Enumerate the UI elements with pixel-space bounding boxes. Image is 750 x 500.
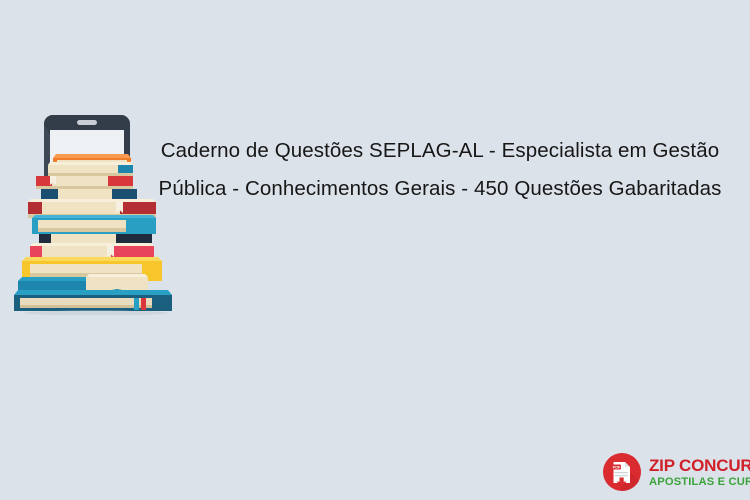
title-block: Caderno de Questões SEPLAG-AL - Especial… <box>150 132 730 208</box>
logo-wordmark: ZIP CONCURSOS APOSTILAS E CURSOS <box>649 456 750 488</box>
promo-banner: Caderno de Questões SEPLAG-AL - Especial… <box>0 0 750 500</box>
book-base-teal <box>14 290 172 311</box>
svg-text:PDF: PDF <box>613 465 621 470</box>
book-cream-orange <box>48 162 133 176</box>
logo-secondary-text: APOSTILAS E CURSOS <box>649 477 750 488</box>
book-red-bookmark <box>36 176 133 189</box>
zip-concursos-logo[interactable]: PDF ZIP CONCURSOS APOSTILAS E CURSOS <box>602 450 744 494</box>
pdf-download-icon: PDF <box>602 452 642 492</box>
ground-shadow <box>24 311 168 315</box>
page-title: Caderno de Questões SEPLAG-AL - Especial… <box>150 132 730 208</box>
logo-primary-text: ZIP CONCURSOS <box>649 457 750 474</box>
book-teal <box>32 215 156 234</box>
